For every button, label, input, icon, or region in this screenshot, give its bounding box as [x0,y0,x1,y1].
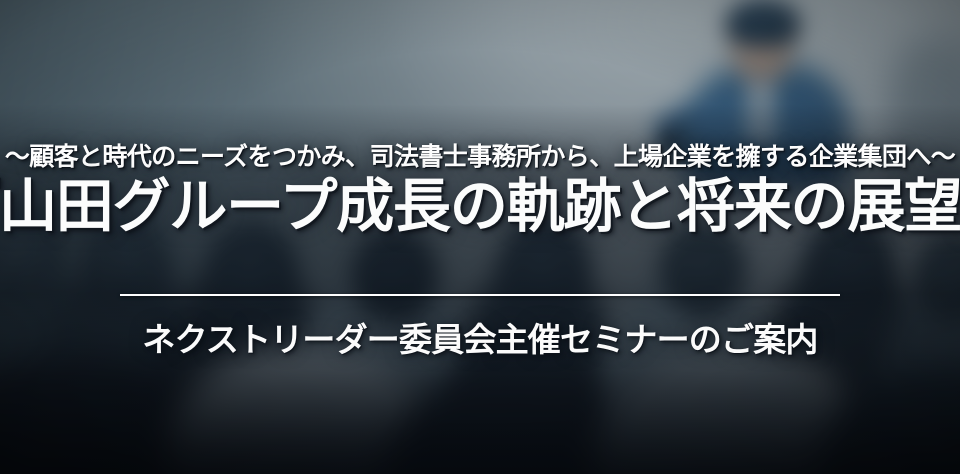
banner-title: 『山田グループ成長の軌跡と将来の展望』 [0,176,960,237]
banner-subtitle: 〜顧客と時代のニーズをつかみ、司法書士事務所から、上場企業を擁する企業集団へ〜 [5,145,955,170]
title-divider [120,294,840,296]
seminar-banner: 〜顧客と時代のニーズをつかみ、司法書士事務所から、上場企業を擁する企業集団へ〜 … [0,0,960,474]
banner-content: 〜顧客と時代のニーズをつかみ、司法書士事務所から、上場企業を擁する企業集団へ〜 … [0,0,960,474]
banner-tagline: ネクストリーダー委員会主催セミナーのご案内 [142,322,817,358]
